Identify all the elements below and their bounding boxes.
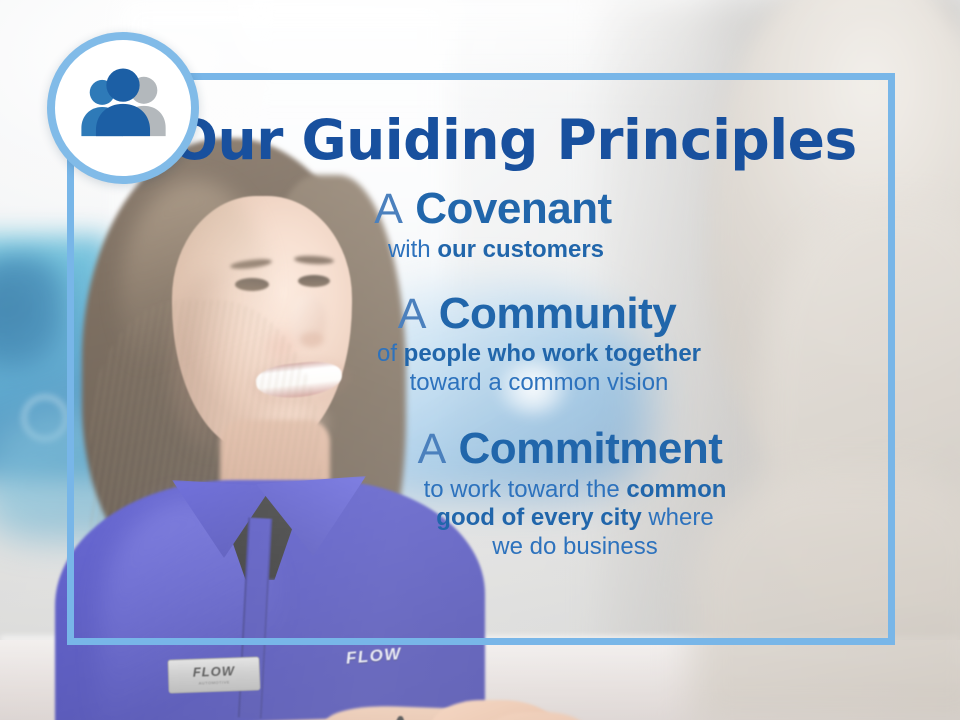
principle-heading: A Commitment (245, 426, 895, 472)
principle-subtext: of people who work together toward a com… (183, 340, 895, 398)
principle-subtext-line: good of every city where (255, 504, 895, 533)
subtext-span-bold: good of every city (436, 504, 641, 531)
principle-subtext: to work toward the common good of every … (255, 476, 895, 562)
principle-covenant: A Covenant with our customers (91, 186, 895, 265)
name-badge-brand: FLOW (193, 664, 236, 678)
principle-keyword: Community (439, 289, 677, 338)
principle-subtext-line: of people who work together (183, 340, 895, 369)
people-group-icon (71, 56, 175, 160)
principle-subtext-line: toward a common vision (183, 369, 895, 398)
employee-name-badge: FLOW AUTOMOTIVE (167, 656, 260, 693)
subtext-span-bold: our customers (437, 236, 604, 263)
principle-article: A (374, 185, 403, 233)
principle-keyword: Commitment (459, 424, 723, 473)
principle-subtext-line: to work toward the common (255, 476, 895, 505)
subtext-span: to work toward the (424, 476, 627, 503)
people-group-icon-badge (47, 32, 199, 184)
principles-content: Our Guiding Principles A Covenant with o… (67, 73, 895, 645)
principle-commitment: A Commitment to work toward the common g… (245, 426, 895, 562)
subtext-span-bold: common (626, 476, 726, 503)
principle-article: A (398, 290, 427, 338)
page-title: Our Guiding Principles (133, 113, 895, 168)
subtext-span: where (642, 504, 714, 531)
principle-article: A (418, 425, 447, 473)
principle-heading: A Community (179, 291, 895, 337)
subtext-span-bold: people who work together (404, 340, 701, 367)
principle-community: A Community of people who work together … (179, 291, 895, 398)
subtext-span: we do business (492, 533, 657, 560)
subtext-span: with (388, 236, 437, 263)
guiding-principles-graphic: FLOW AUTOMOTIVE FLOW Our Guiding Princip… (0, 0, 960, 720)
name-badge-subtext: AUTOMOTIVE (198, 679, 230, 685)
principle-keyword: Covenant (415, 184, 611, 233)
principle-subtext-line: with our customers (97, 236, 895, 265)
principle-subtext-line: we do business (255, 533, 895, 562)
principle-subtext: with our customers (97, 236, 895, 265)
subtext-span: toward a common vision (410, 369, 669, 396)
subtext-span: of (377, 340, 404, 367)
principle-heading: A Covenant (91, 186, 895, 232)
